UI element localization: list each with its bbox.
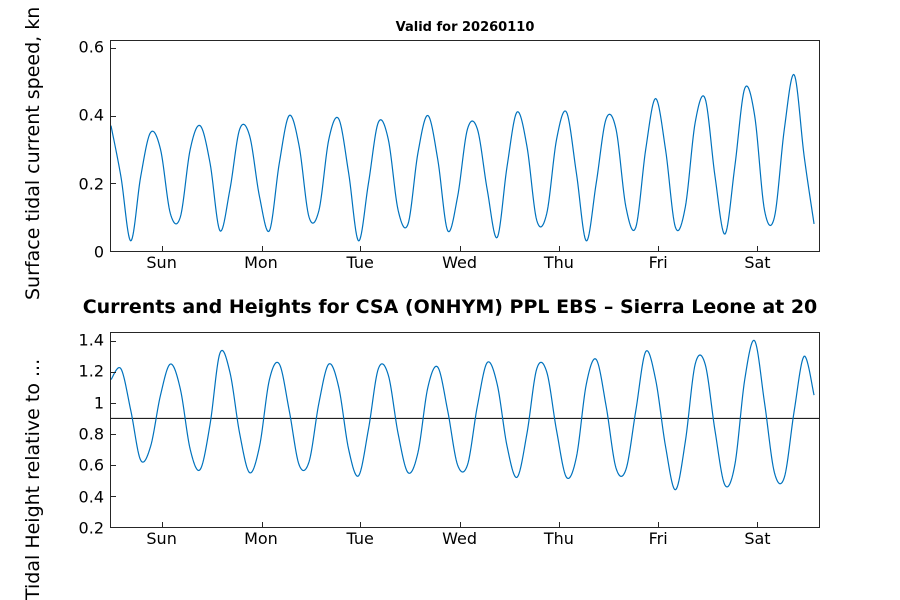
top-plot-area (111, 41, 819, 251)
y-tickmark (111, 465, 116, 466)
bottom-plot-area (111, 333, 819, 527)
bottom-y-tick-5: 1.2 (34, 362, 104, 381)
x-tickmark (460, 522, 461, 527)
bottom-y-tick-1: 0.4 (34, 487, 104, 506)
y-tickmark (111, 116, 116, 117)
top-x-tick-thu: Thu (544, 253, 574, 272)
y-tickmark (111, 251, 116, 252)
x-tickmark (460, 246, 461, 251)
bottom-y-tick-4: 1 (34, 393, 104, 412)
bottom-x-tick-tue: Tue (347, 529, 374, 548)
y-tickmark (111, 496, 116, 497)
y-tickmark (111, 434, 116, 435)
bottom-x-tick-sat: Sat (744, 529, 770, 548)
bottom-x-tick-sun: Sun (146, 529, 176, 548)
x-tickmark (559, 246, 560, 251)
bottom-y-tick-2: 0.6 (34, 456, 104, 475)
bottom-series-svg (111, 333, 819, 527)
x-tickmark (262, 522, 263, 527)
bottom-y-tick-3: 0.8 (34, 424, 104, 443)
top-x-tick-sun: Sun (146, 253, 176, 272)
bottom-y-tick-0: 0.2 (34, 519, 104, 538)
top-y-ticks: 0 0.2 0.4 0.6 (34, 40, 104, 252)
y-tickmark (111, 48, 116, 49)
bottom-x-tick-wed: Wed (442, 529, 477, 548)
top-x-tick-sat: Sat (744, 253, 770, 272)
bottom-y-ticks: 0.2 0.4 0.6 0.8 1 1.2 1.4 (34, 332, 104, 528)
x-tickmark (658, 246, 659, 251)
y-tickmark (111, 183, 116, 184)
top-y-tick-1: 0.2 (34, 174, 104, 193)
series-line-0 (111, 340, 814, 489)
top-axes (110, 40, 820, 252)
figure: Valid for 20260110 Surface tidal current… (0, 0, 900, 600)
y-tickmark (111, 341, 116, 342)
x-tickmark (559, 522, 560, 527)
bottom-axes (110, 332, 820, 528)
bottom-y-tick-6: 1.4 (34, 330, 104, 349)
top-chart-title: Valid for 20260110 (110, 20, 820, 35)
y-tickmark (111, 527, 116, 528)
x-tickmark (658, 522, 659, 527)
x-tickmark (162, 522, 163, 527)
top-series-svg (111, 41, 819, 251)
x-tickmark (162, 246, 163, 251)
y-tickmark (111, 403, 116, 404)
top-y-tick-3: 0.6 (34, 37, 104, 56)
series-line-0 (111, 74, 814, 240)
x-tickmark (262, 246, 263, 251)
top-y-tick-0: 0 (34, 243, 104, 262)
bottom-x-tick-mon: Mon (244, 529, 278, 548)
top-x-ticks: Sun Mon Tue Wed Thu Fri Sat (110, 253, 820, 279)
x-tickmark (757, 246, 758, 251)
y-tickmark (111, 372, 116, 373)
top-x-tick-fri: Fri (649, 253, 668, 272)
bottom-x-tick-thu: Thu (544, 529, 574, 548)
x-tickmark (360, 522, 361, 527)
top-y-tick-2: 0.4 (34, 106, 104, 125)
bottom-x-tick-fri: Fri (649, 529, 668, 548)
figure-suptitle: Currents and Heights for CSA (ONHYM) PPL… (0, 296, 900, 318)
bottom-x-ticks: Sun Mon Tue Wed Thu Fri Sat (110, 529, 820, 555)
x-tickmark (757, 522, 758, 527)
x-tickmark (360, 246, 361, 251)
top-x-tick-mon: Mon (244, 253, 278, 272)
top-x-tick-wed: Wed (442, 253, 477, 272)
top-x-tick-tue: Tue (347, 253, 374, 272)
